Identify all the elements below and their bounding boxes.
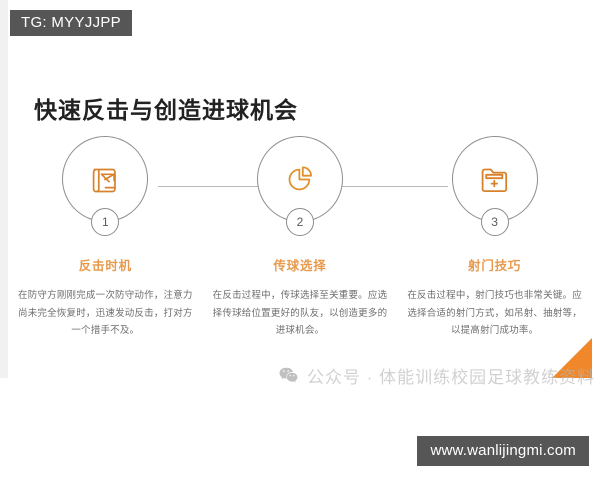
pie-chart-icon (283, 162, 317, 196)
step-circle-wrap-1: 1 (62, 136, 148, 222)
wechat-icon (278, 365, 299, 386)
step-label-1: 反击时机 (79, 255, 132, 274)
left-gutter (0, 0, 8, 378)
step-item-1: 1 反击时机 在防守方刚刚完成一次防守动作，注意力尚未完全恢复时，迅速发动反击，… (12, 136, 198, 340)
steps-row: 1 反击时机 在防守方刚刚完成一次防守动作，注意力尚未完全恢复时，迅速发动反击，… (8, 136, 592, 340)
step-description-1: 在防守方刚刚完成一次防守动作，注意力尚未完全恢复时，迅速发动反击，打对方一个措手… (18, 287, 193, 340)
step-number-badge-2: 2 (286, 208, 314, 236)
folder-plus-icon (478, 162, 512, 196)
page-title: 快速反击与创造进球机会 (34, 91, 298, 125)
strategy-scroll-icon (88, 162, 122, 196)
step-circle-wrap-3: 3 (452, 136, 538, 222)
step-number-badge-1: 1 (91, 208, 119, 236)
step-description-3: 在反击过程中，射门技巧也非常关键。应选择合适的射门方式，如吊射、抽射等，以提高射… (407, 287, 582, 340)
step-item-2: 2 传球选择 在反击过程中，传球选择至关重要。应选择传球给位置更好的队友，以创造… (207, 136, 393, 340)
url-watermark-badge: www.wanlijingmi.com (417, 436, 589, 466)
wechat-watermark-text: 公众号 · 体能训练校园足球教练资料 (307, 363, 595, 388)
step-number-badge-3: 3 (481, 208, 509, 236)
step-label-2: 传球选择 (273, 255, 326, 274)
page-canvas: TG: MYYJJPP 快速反击与创造进球机会 (0, 0, 600, 480)
wechat-watermark: 公众号 · 体能训练校园足球教练资料 (278, 363, 595, 388)
step-label-3: 射门技巧 (468, 255, 521, 274)
step-circle-wrap-2: 2 (257, 136, 343, 222)
step-item-3: 3 射门技巧 在反击过程中，射门技巧也非常关键。应选择合适的射门方式，如吊射、抽… (402, 136, 588, 340)
content-card: 快速反击与创造进球机会 (8, 48, 592, 378)
tg-watermark-badge: TG: MYYJJPP (10, 10, 132, 36)
step-description-2: 在反击过程中，传球选择至关重要。应选择传球给位置更好的队友，以创造更多的进球机会… (212, 287, 387, 340)
